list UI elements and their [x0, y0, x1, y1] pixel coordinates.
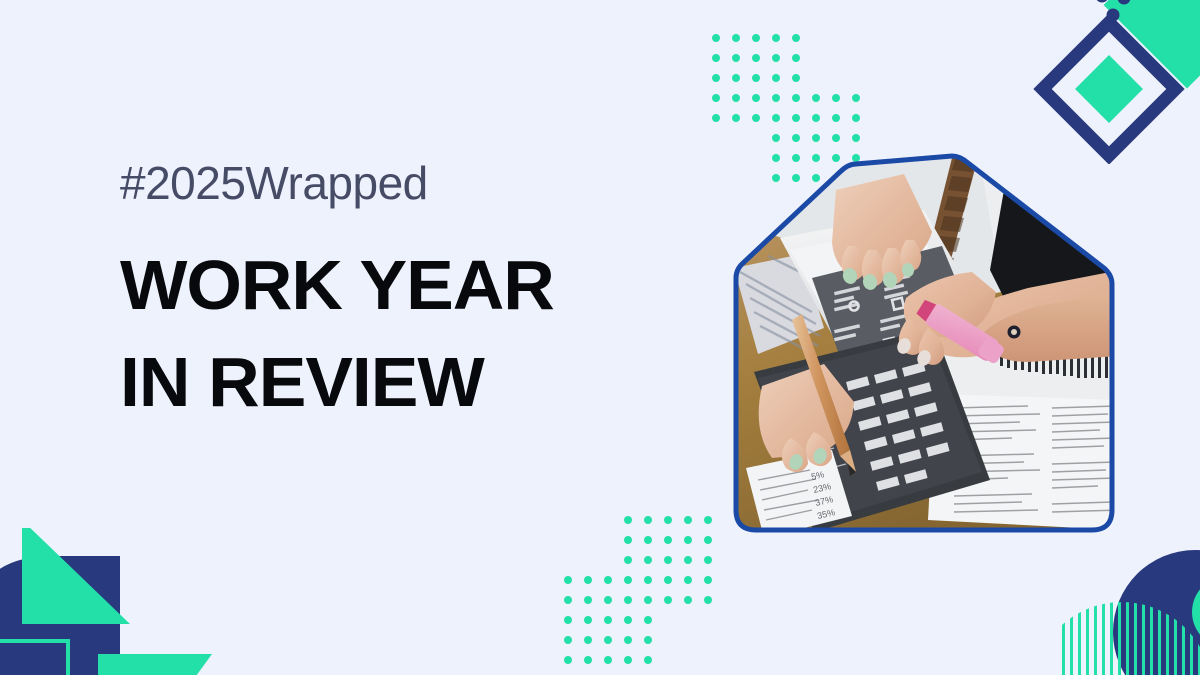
grid-dot	[772, 54, 780, 62]
grid-dot	[604, 616, 612, 624]
grid-dot	[664, 576, 672, 584]
grid-dot	[624, 616, 632, 624]
grid-dot	[772, 34, 780, 42]
grid-dot	[852, 114, 860, 122]
grid-dot	[604, 576, 612, 584]
grid-dot	[624, 596, 632, 604]
grid-dot	[832, 94, 840, 102]
grid-dot	[624, 556, 632, 564]
grid-dot	[812, 134, 820, 142]
grid-dot	[792, 134, 800, 142]
headline-line-1: WORK YEAR	[120, 250, 691, 321]
grid-dot	[712, 74, 720, 82]
green-inner-circle	[1192, 576, 1200, 648]
grid-dot	[832, 114, 840, 122]
green-triangle	[22, 528, 130, 624]
grid-dot	[732, 94, 740, 102]
grid-dot	[684, 576, 692, 584]
grid-dot	[624, 636, 632, 644]
navy-dot-3	[1107, 9, 1120, 22]
grid-dot	[712, 114, 720, 122]
grid-dot	[604, 636, 612, 644]
grid-dot	[812, 114, 820, 122]
page-title: WORK YEAR IN REVIEW	[120, 250, 691, 419]
grid-dot	[644, 556, 652, 564]
navy-dot-1	[1096, 0, 1109, 3]
grid-dot	[624, 536, 632, 544]
green-outline-square	[0, 641, 68, 675]
grid-dot	[644, 576, 652, 584]
grid-dot	[704, 536, 712, 544]
green-inner-diamond	[1075, 55, 1143, 123]
grid-dot	[624, 656, 632, 664]
grid-dot	[852, 134, 860, 142]
navy-quarter-circle	[0, 556, 120, 675]
grid-dot	[792, 54, 800, 62]
grid-dot	[664, 556, 672, 564]
grid-dot	[704, 556, 712, 564]
grid-dot	[684, 556, 692, 564]
grid-dot	[564, 576, 572, 584]
grid-dot	[732, 34, 740, 42]
grid-dot	[712, 94, 720, 102]
eyebrow-hashtag: #2025Wrapped	[120, 160, 680, 206]
grid-dot	[832, 134, 840, 142]
grid-dot	[684, 596, 692, 604]
grid-dot	[732, 54, 740, 62]
grid-dot	[664, 516, 672, 524]
grid-dot	[564, 656, 572, 664]
grid-dot	[604, 596, 612, 604]
grid-dot	[704, 576, 712, 584]
top-right-decoration-cluster	[1010, 0, 1200, 164]
grid-dot	[584, 576, 592, 584]
navy-diamond-outline	[1043, 23, 1176, 156]
text-block: #2025Wrapped WORK YEAR IN REVIEW	[120, 160, 680, 419]
dot-grid-bottom	[564, 516, 714, 666]
grid-dot	[644, 536, 652, 544]
grid-dot	[584, 616, 592, 624]
grid-dot	[644, 516, 652, 524]
grid-dot	[772, 94, 780, 102]
grid-dot	[772, 114, 780, 122]
grid-dot	[704, 596, 712, 604]
bottom-left-decoration-cluster	[0, 528, 230, 675]
grid-dot	[752, 114, 760, 122]
grid-dot	[752, 54, 760, 62]
grid-dot	[644, 596, 652, 604]
photo-frame: 5% 23% 37% 35%	[728, 150, 1120, 538]
grid-dot	[664, 596, 672, 604]
grid-dot	[564, 596, 572, 604]
striped-semicircle	[1060, 600, 1200, 675]
grid-dot	[604, 656, 612, 664]
green-parallelogram	[98, 654, 212, 675]
grid-dot	[732, 74, 740, 82]
grid-dot	[752, 34, 760, 42]
grid-dot	[584, 596, 592, 604]
grid-dot	[684, 536, 692, 544]
grid-dot	[624, 516, 632, 524]
grid-dot	[852, 94, 860, 102]
bottom-right-decoration-cluster	[1060, 540, 1200, 675]
grid-dot	[564, 636, 572, 644]
grid-dot	[684, 516, 692, 524]
grid-dot	[584, 636, 592, 644]
grid-dot	[792, 34, 800, 42]
navy-dot-2	[1118, 0, 1131, 5]
grid-dot	[584, 656, 592, 664]
grid-dot	[624, 576, 632, 584]
grid-dot	[812, 94, 820, 102]
grid-dot	[732, 114, 740, 122]
green-corner-square	[1104, 0, 1200, 88]
grid-dot	[644, 656, 652, 664]
grid-dot	[792, 114, 800, 122]
grid-dot	[772, 74, 780, 82]
grid-dot	[752, 94, 760, 102]
grid-dot	[564, 616, 572, 624]
grid-dot	[704, 516, 712, 524]
grid-dot	[712, 34, 720, 42]
headline-line-2: IN REVIEW	[120, 347, 691, 418]
poster-canvas: 5% 23% 37% 35%	[0, 0, 1200, 675]
photo-image: 5% 23% 37% 35%	[728, 150, 1120, 538]
grid-dot	[792, 94, 800, 102]
grid-dot	[752, 74, 760, 82]
navy-circle	[1113, 550, 1200, 675]
grid-dot	[792, 74, 800, 82]
grid-dot	[772, 134, 780, 142]
grid-dot	[644, 616, 652, 624]
grid-dot	[664, 536, 672, 544]
grid-dot	[712, 54, 720, 62]
grid-dot	[644, 636, 652, 644]
